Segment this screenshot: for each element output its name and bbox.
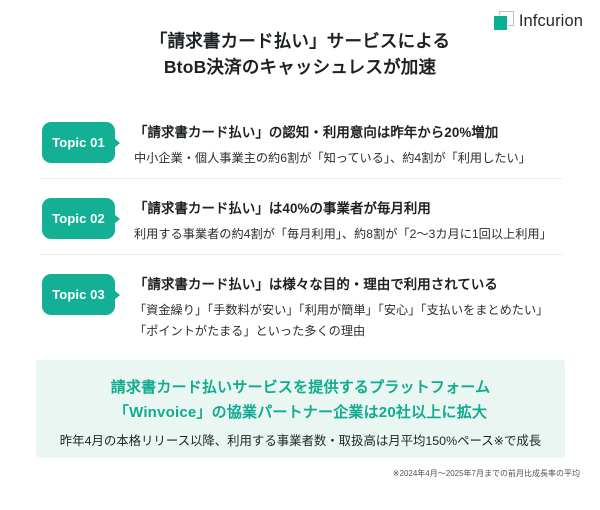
topic-heading: 「請求書カード払い」は様々な目的・理由で利用されている	[134, 275, 560, 295]
topic-list: Topic 01 「請求書カード払い」の認知・利用意向は昨年から20%増加 中小…	[17, 100, 583, 344]
highlight-detail: 昨年4月の本格リリース以降、利用する事業者数・取扱高は月平均150%ペース※で成…	[36, 432, 565, 450]
topic-detail: 中小企業・個人事業主の約6割が「知っている」、約4割が「利用したい」	[134, 148, 560, 169]
badge-pointer-icon	[114, 214, 120, 224]
topic-text: 「請求書カード払い」は40%の事業者が毎月利用 利用する事業者の約4割が「毎月利…	[134, 198, 560, 245]
topic-detail: 利用する事業者の約4割が「毎月利用」、約8割が「2〜3カ月に1回以上利用」	[134, 224, 560, 245]
topic-row: Topic 01 「請求書カード払い」の認知・利用意向は昨年から20%増加 中小…	[17, 100, 583, 178]
page-title-line-2: BtoB決済のキャッシュレスが加速	[0, 54, 600, 80]
topic-text: 「請求書カード払い」の認知・利用意向は昨年から20%増加 中小企業・個人事業主の…	[134, 122, 560, 169]
topic-badge-label: Topic 01	[52, 136, 105, 149]
topic-badge: Topic 01	[42, 122, 115, 163]
footnote: ※2024年4月〜2025年7月までの前月比成長率の平均	[393, 468, 580, 479]
content-card: Topic 01 「請求書カード払い」の認知・利用意向は昨年から20%増加 中小…	[17, 100, 583, 493]
topic-heading: 「請求書カード払い」の認知・利用意向は昨年から20%増加	[134, 123, 560, 143]
topic-badge-wrap: Topic 01	[42, 122, 115, 163]
highlight-heading-line-1: 請求書カード払いサービスを提供するプラットフォーム	[36, 375, 565, 400]
badge-pointer-icon	[114, 290, 120, 300]
topic-detail-line-1: 「資金繰り」「手数料が安い」「利用が簡単」「安心」「支払いをまとめた	[134, 303, 524, 317]
topic-badge: Topic 02	[42, 198, 115, 239]
topic-badge-label: Topic 02	[52, 212, 105, 225]
topic-row: Topic 03 「請求書カード払い」は様々な目的・理由で利用されている 「資金…	[17, 254, 583, 344]
topic-heading: 「請求書カード払い」は40%の事業者が毎月利用	[134, 199, 560, 219]
highlight-heading-line-2: 「Winvoice」の協業パートナー企業は20社以上に拡大	[36, 400, 565, 425]
topic-badge-label: Topic 03	[52, 288, 105, 301]
highlight-heading: 請求書カード払いサービスを提供するプラットフォーム 「Winvoice」の協業パ…	[36, 375, 565, 425]
topic-badge-wrap: Topic 03	[42, 274, 115, 315]
topic-text: 「請求書カード払い」は様々な目的・理由で利用されている 「資金繰り」「手数料が安…	[134, 274, 560, 342]
topic-row: Topic 02 「請求書カード払い」は40%の事業者が毎月利用 利用する事業者…	[17, 178, 583, 254]
topic-badge: Topic 03	[42, 274, 115, 315]
badge-pointer-icon	[114, 138, 120, 148]
infographic-page: Infcurion 「請求書カード払い」サービスによる BtoB決済のキャッシュ…	[0, 0, 600, 510]
topic-detail: 「資金繰り」「手数料が安い」「利用が簡単」「安心」「支払いをまとめたい」「ポイン…	[134, 300, 560, 342]
page-title-line-1: 「請求書カード払い」サービスによる	[0, 28, 600, 54]
page-header: Infcurion 「請求書カード払い」サービスによる BtoB決済のキャッシュ…	[0, 0, 600, 100]
highlight-box: 請求書カード払いサービスを提供するプラットフォーム 「Winvoice」の協業パ…	[36, 360, 565, 458]
topic-badge-wrap: Topic 02	[42, 198, 115, 239]
page-title: 「請求書カード払い」サービスによる BtoB決済のキャッシュレスが加速	[0, 28, 600, 80]
